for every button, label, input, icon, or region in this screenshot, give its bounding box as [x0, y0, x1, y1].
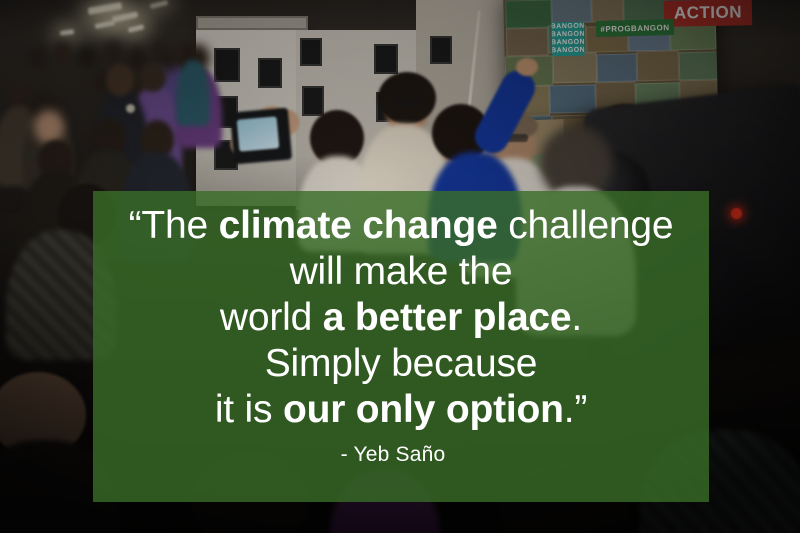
- crowd-head: [34, 110, 64, 144]
- framed-photograph: [300, 38, 322, 66]
- quote-line-4: Simply because: [93, 341, 709, 387]
- framed-photograph: [214, 48, 240, 82]
- framed-photograph: [430, 36, 452, 64]
- quote-card: ACTION #PROGBANGON BANGON BANGON BANGON …: [0, 0, 800, 533]
- sign-action-label: ACTION: [674, 2, 743, 23]
- sign-bangon-label: BANGON: [552, 47, 585, 56]
- crowd-head: [52, 40, 72, 64]
- crowd-head: [28, 46, 48, 70]
- quote-segment-bold: our only option: [283, 388, 564, 431]
- quote-line-1: “The climate change challenge: [93, 203, 709, 249]
- quote-segment: challenge: [498, 204, 674, 247]
- quote-segment: .: [571, 296, 582, 339]
- quote-overlay-panel: “The climate change challenge will make …: [93, 191, 709, 502]
- sign-bangon: BANGON BANGON BANGON BANGON: [552, 22, 585, 57]
- crowd-head: [140, 62, 166, 92]
- eyeglasses: [392, 98, 424, 107]
- pointing-hand: [516, 58, 538, 76]
- quote-segment: “The: [129, 204, 219, 247]
- officer-badge: [126, 104, 135, 113]
- sign-progbangon: #PROGBANGON: [596, 19, 674, 37]
- quote-line-5: it is our only option.”: [93, 387, 709, 433]
- framed-photograph: [258, 58, 282, 88]
- crowd-head: [106, 64, 134, 96]
- camera-monitor-screen: [237, 116, 280, 151]
- quote-attribution: - Yeb Saño: [85, 443, 701, 467]
- quote-segment: it is: [215, 388, 283, 431]
- sign-action: ACTION: [664, 0, 752, 27]
- quote-segment: .”: [564, 388, 587, 431]
- framed-photograph: [302, 86, 324, 116]
- framed-photograph: [374, 44, 398, 74]
- quote-text-block: “The climate change challenge will make …: [93, 203, 709, 433]
- quote-line-2: will make the: [93, 249, 709, 295]
- sign-progbangon-label: #PROGBANGON: [600, 23, 669, 34]
- crowd-head: [104, 42, 122, 64]
- camera-record-light: [731, 208, 742, 219]
- framed-photograph: [196, 16, 308, 30]
- quote-segment-bold: a better place: [323, 296, 572, 339]
- quote-segment: will make the: [290, 250, 513, 293]
- quote-segment: Simply because: [265, 342, 538, 385]
- crowd-body-teal-shirt: [176, 60, 210, 126]
- quote-segment-bold: climate change: [219, 204, 498, 247]
- crowd-head: [78, 46, 96, 68]
- quote-segment: world: [220, 296, 323, 339]
- quote-line-3: world a better place.: [93, 295, 709, 341]
